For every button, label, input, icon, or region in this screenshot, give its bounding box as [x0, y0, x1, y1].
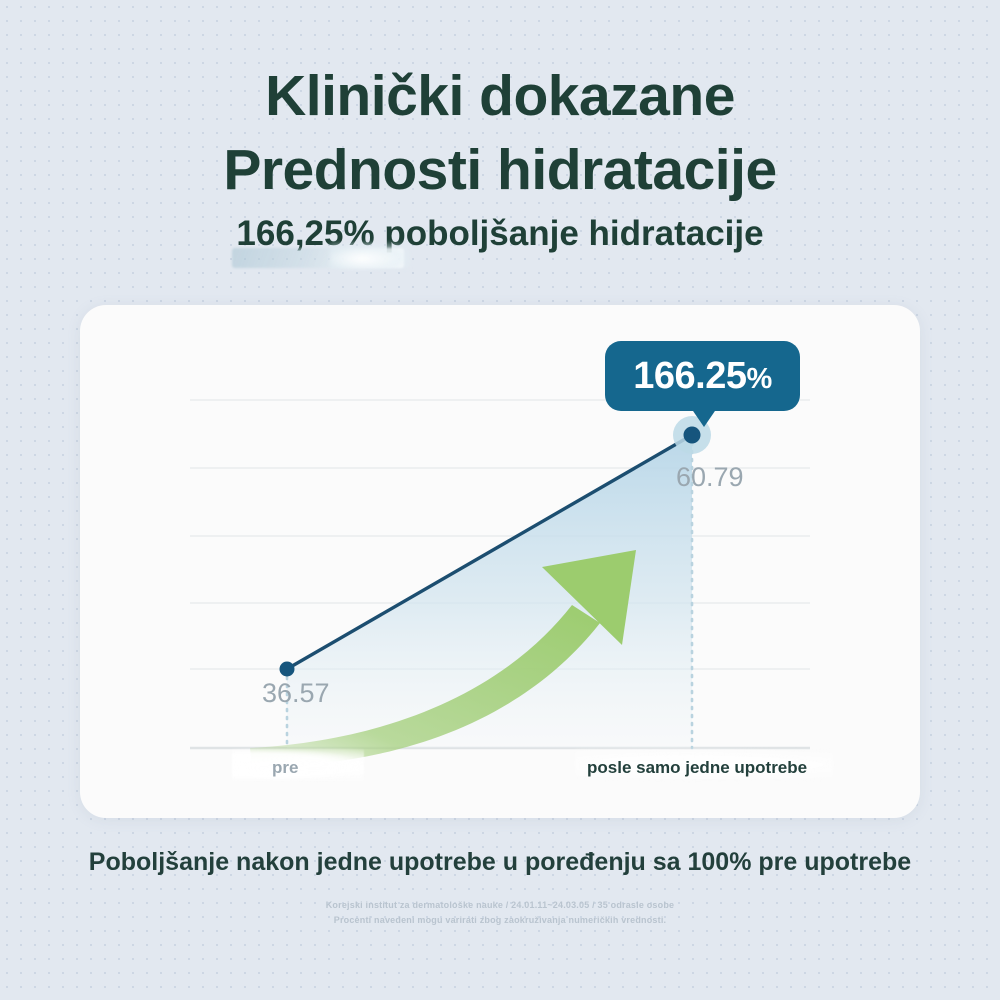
footnotes: Korejski institut za dermatološke nauke …: [0, 898, 1000, 928]
page-title-line-1: Klinički dokazane: [0, 68, 1000, 125]
value-label-end: 60.79: [676, 462, 744, 493]
axis-label-after: posle samo jedne upotrebe: [587, 758, 807, 778]
highlight-badge-value: 166.25: [633, 355, 746, 397]
footnote-disclaimer: Procenti navedeni mogu varirati zbog zao…: [0, 913, 1000, 928]
page-title-line-2: Prednosti hidratacije: [0, 142, 1000, 199]
highlight-badge: 166.25%: [605, 341, 800, 411]
footnote-source: Korejski institut za dermatološke nauke …: [0, 898, 1000, 913]
value-label-start: 36.57: [262, 678, 330, 709]
highlight-badge-unit: %: [746, 363, 771, 395]
chart-caption: Poboljšanje nakon jedne upotrebe u poređ…: [0, 848, 1000, 877]
chart-point-start[interactable]: [280, 662, 295, 677]
highlight-badge-pointer: [691, 408, 717, 427]
poster-root: Klinički dokazane Prednosti hidratacije …: [0, 0, 1000, 1000]
chart-point-end[interactable]: [684, 427, 701, 444]
axis-label-before: pre: [272, 758, 298, 778]
page-subtitle: 166,25% poboljšanje hidratacije: [0, 216, 1000, 251]
highlight-badge-label: 166.25%: [633, 355, 772, 398]
